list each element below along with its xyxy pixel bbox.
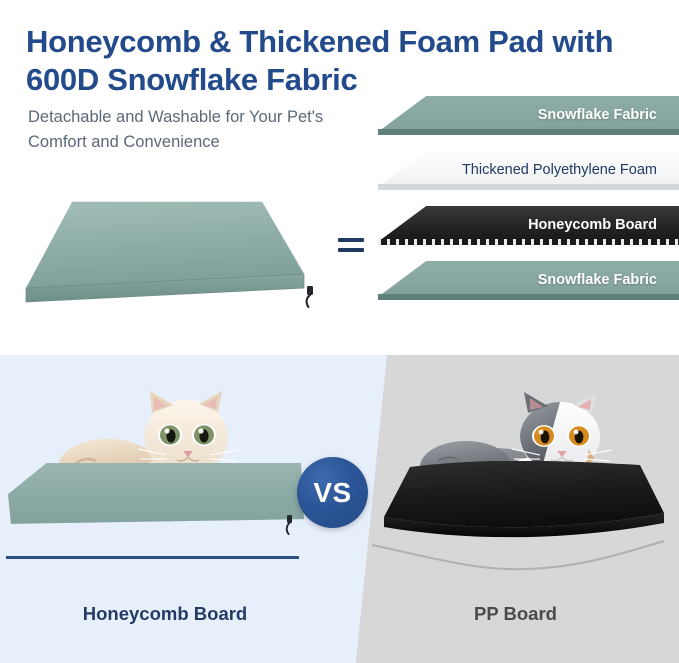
honeycomb-board-label: Honeycomb Board [0,603,330,625]
page-subtitle: Detachable and Washable for Your Pet's C… [28,105,368,155]
zipper-pull-icon [283,515,296,535]
exploded-layer-stack: Snowflake Fabric Thickened Polyethylene … [378,96,679,312]
layer-edge [378,184,679,190]
vs-badge: VS [297,457,368,528]
layer-edge-honeycomb-cells [378,239,679,245]
honeycomb-support-line [6,556,299,559]
layer-snowflake-fabric-bottom: Snowflake Fabric [378,261,679,307]
product-feature-section: Honeycomb & Thickened Foam Pad with 600D… [0,0,679,355]
page-title: Honeycomb & Thickened Foam Pad with 600D… [26,23,666,99]
layer-label: Thickened Polyethylene Foam [462,162,657,178]
honeycomb-pad-flat [8,463,304,541]
equals-symbol [338,238,364,256]
layer-edge [378,294,679,300]
layer-edge [378,129,679,135]
zipper-pull-icon [302,286,318,308]
layer-label: Honeycomb Board [528,217,657,233]
assembled-pad-illustration [14,196,324,314]
layer-label: Snowflake Fabric [538,107,657,123]
layer-snowflake-fabric-top: Snowflake Fabric [378,96,679,142]
pp-board-label: PP Board [352,603,679,625]
vs-badge-label: VS [297,457,368,528]
equals-bar-top [338,238,364,242]
pad-shape-svg [14,196,324,314]
layer-label: Snowflake Fabric [538,272,657,288]
equals-bar-bottom [338,248,364,252]
pad-surface [8,463,304,541]
pp-board-deflection-line [368,531,668,579]
layer-polyethylene-foam: Thickened Polyethylene Foam [378,151,679,197]
layer-honeycomb-board: Honeycomb Board [378,206,679,252]
